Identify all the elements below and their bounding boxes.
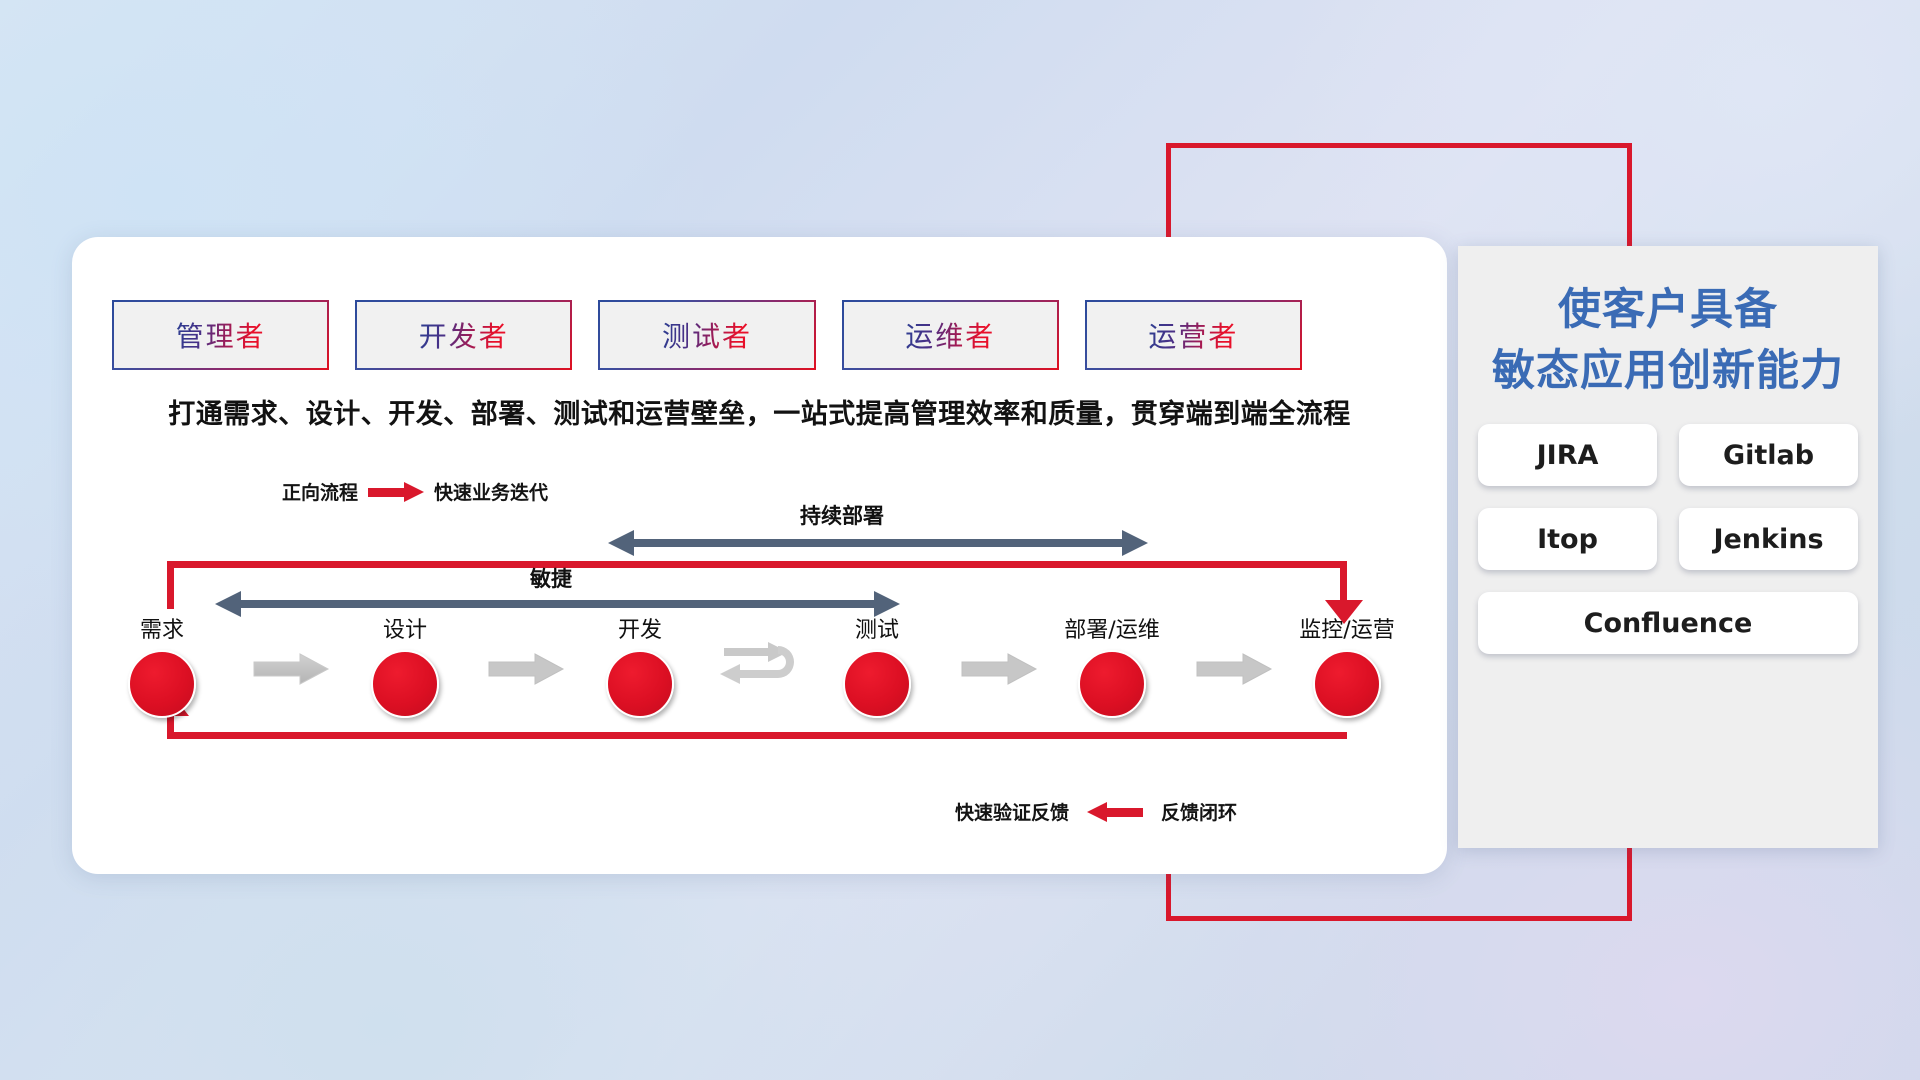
tools-chip-grid: JIRA Gitlab Itop Jenkins Confluence: [1478, 424, 1858, 654]
arrow-right-gray-icon: [487, 652, 565, 686]
arrow-uturn-gray-icon: [720, 642, 812, 694]
role-label: 运营者: [1148, 315, 1238, 355]
pipeline-node-circle: [1313, 650, 1381, 718]
pipeline-node-label: 开发: [590, 612, 690, 644]
pipeline-node-label: 部署/运维: [1062, 612, 1162, 644]
arrow-shaft: [632, 539, 1124, 547]
arrow-right-gray-icon: [252, 652, 330, 686]
double-arrow-agile-icon: [215, 597, 900, 611]
legend-forward-flow: 正向流程 快速业务迭代: [282, 478, 548, 505]
arrow-head-right-icon: [1122, 530, 1148, 556]
tools-panel-headline: 使客户具备 敏态应用创新能力: [1458, 246, 1878, 402]
pipeline-node-monitor-operations[interactable]: 监控/运营: [1297, 612, 1397, 718]
pipeline-node-design[interactable]: 设计: [355, 612, 455, 718]
pipeline-node-circle: [128, 650, 196, 718]
role-label: 开发者: [419, 315, 509, 355]
pipeline-node-circle: [1078, 650, 1146, 718]
slide-canvas: 管理者 开发者 测试者 运维者 运营者 打通需求、设计、开发、部署、测试和运营壁…: [0, 0, 1920, 1080]
pipeline-node-label: 监控/运营: [1297, 612, 1397, 644]
tool-chip-jira[interactable]: JIRA: [1478, 424, 1657, 486]
legend-forward-source-label: 正向流程: [282, 478, 358, 505]
arrow-right-gray-icon: [1195, 652, 1273, 686]
role-box-tester[interactable]: 测试者: [598, 300, 815, 370]
feedback-loop-left-stub: [167, 561, 174, 609]
band-label-continuous-deployment: 持续部署: [800, 500, 884, 530]
pipeline-node-deploy-ops[interactable]: 部署/运维: [1062, 612, 1162, 718]
band-label-agile: 敏捷: [530, 563, 572, 593]
role-label: 运维者: [905, 315, 995, 355]
role-row: 管理者 开发者 测试者 运维者 运营者: [112, 300, 1302, 370]
legend-feedback-target-label: 快速验证反馈: [955, 798, 1069, 825]
role-box-business-operator[interactable]: 运营者: [1085, 300, 1302, 370]
role-label: 测试者: [662, 315, 752, 355]
double-arrow-continuous-deployment-icon: [608, 536, 1148, 550]
arrow-right-gray-icon: [960, 652, 1038, 686]
arrow-shaft: [239, 600, 876, 608]
tool-chip-jenkins[interactable]: Jenkins: [1679, 508, 1858, 570]
legend-feedback-loop: 快速验证反馈 反馈闭环: [955, 798, 1237, 825]
tools-headline-line-1: 使客户具备: [1458, 280, 1878, 341]
pipeline-node-label: 需求: [112, 612, 212, 644]
arrow-head-left-icon: [608, 530, 634, 556]
pipeline-node-label: 测试: [827, 612, 927, 644]
legend-forward-target-label: 快速业务迭代: [434, 478, 548, 505]
tagline-text: 打通需求、设计、开发、部署、测试和运营壁垒，一站式提高管理效率和质量，贯穿端到端…: [72, 392, 1447, 431]
pipeline-node-testing[interactable]: 测试: [827, 612, 927, 718]
feedback-loop-bottom-segment: [167, 732, 1347, 739]
tools-panel: 使客户具备 敏态应用创新能力 JIRA Gitlab Itop Jenkins …: [1458, 246, 1878, 848]
pipeline-row: 需求 设计 开发: [112, 612, 1402, 722]
pipeline-node-label: 设计: [355, 612, 455, 644]
bracket-top-segment: [1166, 143, 1632, 148]
pipeline-node-circle: [371, 650, 439, 718]
role-label: 管理者: [176, 315, 266, 355]
arrow-left-red-icon: [1087, 802, 1143, 822]
role-box-developer[interactable]: 开发者: [355, 300, 572, 370]
role-box-manager[interactable]: 管理者: [112, 300, 329, 370]
pipeline-node-development[interactable]: 开发: [590, 612, 690, 718]
tool-chip-itop[interactable]: Itop: [1478, 508, 1657, 570]
bracket-bottom-segment: [1166, 916, 1632, 921]
pipeline-node-requirement[interactable]: 需求: [112, 612, 212, 718]
tools-headline-line-2: 敏态应用创新能力: [1458, 341, 1878, 402]
pipeline-node-circle: [606, 650, 674, 718]
legend-feedback-source-label: 反馈闭环: [1161, 798, 1237, 825]
pipeline-node-circle: [843, 650, 911, 718]
feedback-loop-top-segment: [167, 561, 1347, 568]
tool-chip-confluence[interactable]: Confluence: [1478, 592, 1858, 654]
tool-chip-gitlab[interactable]: Gitlab: [1679, 424, 1858, 486]
role-box-operations-engineer[interactable]: 运维者: [842, 300, 1059, 370]
arrow-right-red-icon: [368, 482, 424, 502]
